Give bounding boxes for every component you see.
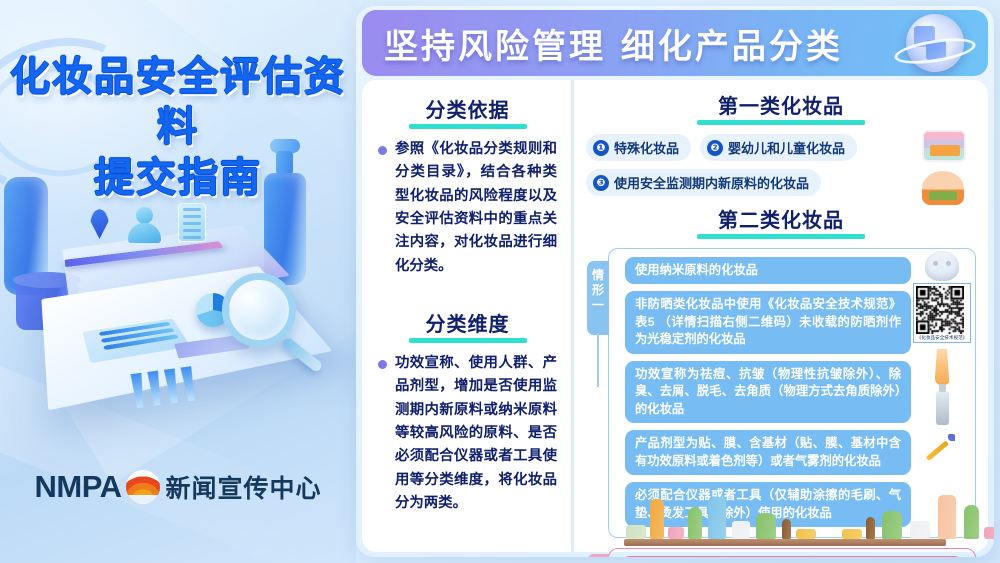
product-bottle-icon: [782, 519, 791, 539]
dimension-bullet-text: 功效宣称、使用人群、产品剂型，增加是否使用监测期内新原料或纳米原料等较高风险的原…: [395, 352, 557, 515]
product-bottle-icon: [866, 517, 875, 539]
product-jar-icon: [626, 525, 646, 539]
product-jar-icon: [984, 527, 994, 539]
cream-jar-icon: [922, 130, 966, 166]
item-number-badge: ❷: [707, 140, 723, 156]
item-label: 婴幼儿和儿童化妆品: [728, 138, 845, 157]
cosmetics-desk-3d-illustration: [0, 185, 356, 435]
case1-item: 功效宣称为祛痘、抗皱（物理性抗皱除外）、除臭、去屑、脱毛、去角质（物理方式去角质…: [625, 361, 911, 423]
case1-item: 使用纳米原料的化妆品: [625, 257, 911, 284]
item-number-badge: ❶: [593, 140, 609, 156]
magnifier-icon: [222, 273, 318, 369]
product-jar-icon: [668, 527, 684, 539]
person-icon-body: [128, 223, 161, 243]
category1-items: ❶ 特殊化妆品 ❷ 婴幼儿和儿童化妆品 ❸ 使用安全监测期内新原料的化妆品: [586, 134, 976, 196]
category1-item[interactable]: ❶ 特殊化妆品: [586, 134, 691, 161]
case1-item: 产品剂型为贴、膜、含基材（贴、膜、基材中含有功效原料或着色剂等）或者气雾剂的化妆…: [625, 430, 911, 475]
product-bottle-icon: [708, 497, 726, 539]
cream-tube-icon: [935, 349, 950, 385]
content-panel: 坚持风险管理 细化产品分类 分类依据 参照《化妆品分类规则和分类目录》，结合各种…: [356, 6, 994, 557]
page-title: 化妆品安全评估资料 提交指南: [0, 52, 356, 203]
item-label: 特殊化妆品: [614, 138, 679, 157]
nmpa-logo: NMPA 新闻宣传中心: [0, 469, 356, 505]
page-title-line2: 提交指南: [0, 153, 356, 203]
dimension-heading: 分类维度: [378, 308, 557, 343]
product-jar-icon: [796, 529, 816, 539]
face-mask-icon: [925, 251, 959, 281]
person-icon-head: [136, 207, 153, 224]
product-tube-icon: [688, 507, 702, 539]
basis-bullet-text: 参照《化妆品分类规则和分类目录》，结合各种类型化妆品的风险程度以及安全评估资料中…: [395, 138, 557, 278]
item-number-badge: ❸: [593, 175, 609, 191]
header-banner: 坚持风险管理 细化产品分类: [362, 10, 988, 76]
product-bottle-icon: [938, 495, 956, 539]
nmpa-center-name: 新闻宣传中心: [165, 469, 321, 505]
category1-row-2: ❸ 使用安全监测期内新原料的化妆品: [586, 169, 920, 196]
basis-section: 分类依据 参照《化妆品分类规则和分类目录》，结合各种类型化妆品的风险程度以及安全…: [378, 94, 557, 278]
basis-heading: 分类依据: [378, 94, 557, 129]
document-icon: [178, 203, 206, 242]
nmpa-wordmark: NMPA: [35, 469, 122, 505]
globe-puzzle-icon: [896, 10, 974, 76]
nmpa-arc-logo-icon: [126, 470, 160, 504]
dimension-section: 分类维度 功效宣称、使用人群、产品剂型，增加是否使用监测期内新原料或纳米原料等较…: [378, 308, 557, 515]
product-jar-icon: [842, 529, 862, 539]
product-tube-icon: [882, 511, 902, 539]
cream-pot-icon: [922, 171, 966, 207]
bullet-dot-icon: [378, 146, 387, 155]
header-title: 坚持风险管理 细化产品分类: [384, 19, 843, 68]
case2-item: 第二类化妆品中除情形一之外的其他普通化妆品: [621, 556, 963, 557]
category1-item[interactable]: ❷ 婴幼儿和儿童化妆品: [700, 134, 857, 161]
case1-side-icons: 《化妆品安全技术规范》: [913, 251, 971, 463]
cosmetic-products-shelf-icon: [596, 492, 974, 550]
location-pin-icon: [90, 209, 109, 239]
item-label: 使用安全监测期内新原料的化妆品: [614, 173, 809, 192]
categories-column: 第一类化妆品 ❶ 特殊化妆品 ❷ 婴幼儿和儿童化妆品 ❸ 使用安全监测期内新: [574, 80, 988, 552]
qr-code-icon[interactable]: 《化妆品安全技术规范》: [913, 283, 971, 343]
category1-row-1: ❶ 特殊化妆品 ❷ 婴幼儿和儿童化妆品: [586, 134, 920, 161]
category1-heading: 第一类化妆品: [586, 90, 976, 125]
bullet-dot-icon: [378, 360, 387, 369]
qr-caption: 《化妆品安全技术规范》: [916, 334, 968, 340]
shelf-plank: [624, 539, 946, 546]
product-jar-icon: [910, 521, 930, 539]
left-cover-panel: 化妆品安全评估资料 提交指南 NMPA 新闻宣传中心: [0, 0, 356, 563]
category1-item[interactable]: ❸ 使用安全监测期内新原料的化妆品: [586, 169, 821, 196]
dimension-bullet: 功效宣称、使用人群、产品剂型，增加是否使用监测期内新原料或纳米原料等较高风险的原…: [378, 352, 557, 515]
page-title-line1: 化妆品安全评估资料: [0, 52, 356, 153]
category2-heading: 第二类化妆品: [586, 204, 976, 239]
case1-item: 非防晒类化妆品中使用《化妆品安全技术规范》表5 （详情扫描右侧二维码）未收载的防…: [625, 291, 911, 353]
product-tube-icon: [756, 513, 776, 539]
test-tubes-icon: [130, 360, 199, 408]
inner-card: 分类依据 参照《化妆品分类规则和分类目录》，结合各种类型化妆品的风险程度以及安全…: [362, 80, 988, 552]
product-bottle-icon: [650, 499, 664, 539]
product-tube-icon: [964, 505, 979, 539]
case2-tab-label: 情形二: [587, 554, 609, 557]
criteria-column: 分类依据 参照《化妆品分类规则和分类目录》，结合各种类型化妆品的风险程度以及安全…: [362, 80, 574, 552]
case1-tab-label: 情形一: [587, 261, 609, 335]
basis-bullet: 参照《化妆品分类规则和分类目录》，结合各种类型化妆品的风险程度以及安全评估资料中…: [378, 138, 557, 278]
category1-product-icons: [922, 130, 972, 212]
product-jar-icon: [732, 521, 750, 539]
spray-bottle-icon: [936, 391, 949, 425]
makeup-brush-icon: [927, 433, 957, 463]
